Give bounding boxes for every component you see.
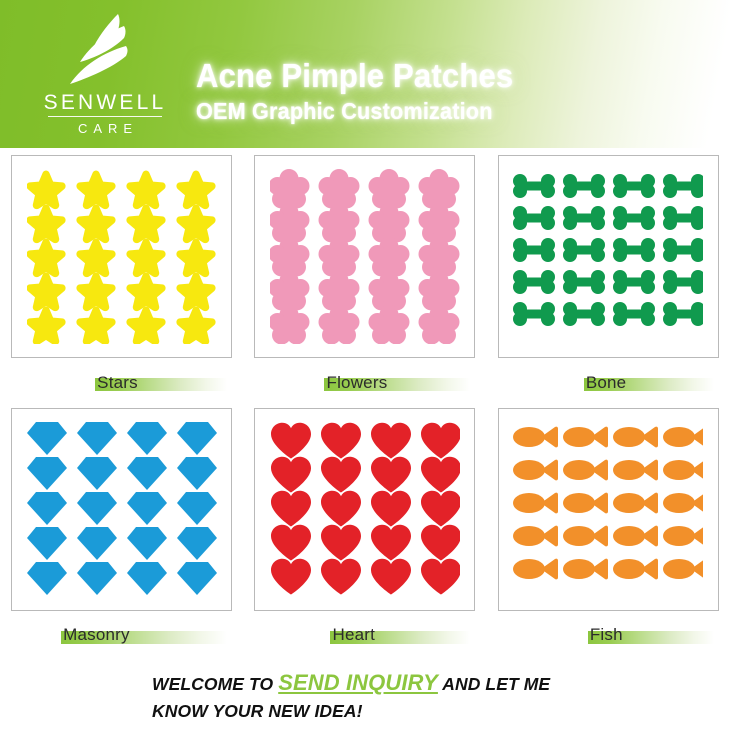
patch-shape-grid: Stars xyxy=(0,148,730,653)
panel-fish: Fish xyxy=(487,401,730,654)
label-wrap-masonry: Masonry xyxy=(11,617,232,653)
heart-shape-sheet xyxy=(270,422,460,597)
panel-masonry: Masonry xyxy=(0,401,243,654)
header-text-block: Acne Pimple Patches OEM Graphic Customiz… xyxy=(196,58,696,124)
label-wrap-stars: Stars xyxy=(11,364,232,400)
product-banner: SENWELL CARE Acne Pimple Patches OEM Gra… xyxy=(0,0,730,730)
swatch-stars xyxy=(11,155,232,358)
footer-line-2: KNOW YOUR NEW IDEA! xyxy=(152,699,622,724)
footer-cta: WELCOME TO SEND INQUIRY AND LET ME KNOW … xyxy=(0,653,730,730)
swatch-flowers xyxy=(254,155,475,358)
panel-heart: Heart xyxy=(243,401,486,654)
brand-divider xyxy=(48,116,162,117)
label-wrap-bone: Bone xyxy=(498,364,719,400)
label-wrap-fish: Fish xyxy=(498,617,719,653)
panel-label-stars: Stars xyxy=(97,372,138,393)
panel-label-masonry: Masonry xyxy=(63,624,130,645)
footer-line-1: WELCOME TO SEND INQUIRY AND LET ME xyxy=(152,667,622,699)
swatch-heart xyxy=(254,408,475,611)
footer-text-before: WELCOME TO xyxy=(152,674,278,694)
brand-subtitle: CARE xyxy=(30,122,180,135)
star-shape-sheet xyxy=(27,169,217,344)
label-wrap-heart: Heart xyxy=(254,617,475,653)
fish-shape-sheet xyxy=(513,424,703,594)
swatch-bone xyxy=(498,155,719,358)
footer-text-block: WELCOME TO SEND INQUIRY AND LET ME KNOW … xyxy=(152,667,622,724)
header-banner: SENWELL CARE Acne Pimple Patches OEM Gra… xyxy=(0,0,730,148)
swatch-fish xyxy=(498,408,719,611)
panel-stars: Stars xyxy=(0,148,243,401)
flame-leaf-logo-icon xyxy=(56,12,152,90)
brand-wordmark: SENWELL xyxy=(30,92,180,113)
gem-shape-sheet xyxy=(27,422,217,597)
swatch-masonry xyxy=(11,408,232,611)
label-wrap-flowers: Flowers xyxy=(254,364,475,400)
page-subtitle: OEM Graphic Customization xyxy=(196,98,666,124)
panel-flowers: Flowers xyxy=(243,148,486,401)
panel-label-flowers: Flowers xyxy=(326,372,387,393)
panel-label-heart: Heart xyxy=(332,624,375,645)
page-title: Acne Pimple Patches xyxy=(196,58,666,95)
send-inquiry-link[interactable]: SEND INQUIRY xyxy=(278,670,438,695)
panel-bone: Bone xyxy=(487,148,730,401)
footer-text-after: AND LET ME xyxy=(438,674,550,694)
bone-shape-sheet xyxy=(513,174,703,339)
panel-label-fish: Fish xyxy=(590,624,623,645)
panel-label-bone: Bone xyxy=(586,372,627,393)
brand-logo: SENWELL CARE xyxy=(30,12,180,138)
flower-shape-sheet xyxy=(270,169,460,344)
